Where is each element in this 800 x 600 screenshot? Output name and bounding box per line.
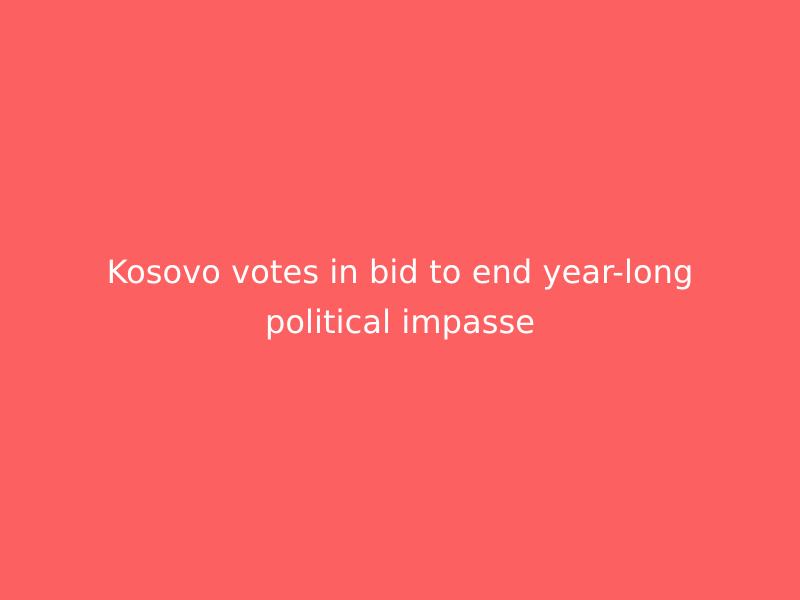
headline-text: Kosovo votes in bid to end year-long pol…: [68, 247, 732, 347]
article-placeholder-card: Kosovo votes in bid to end year-long pol…: [0, 0, 800, 600]
